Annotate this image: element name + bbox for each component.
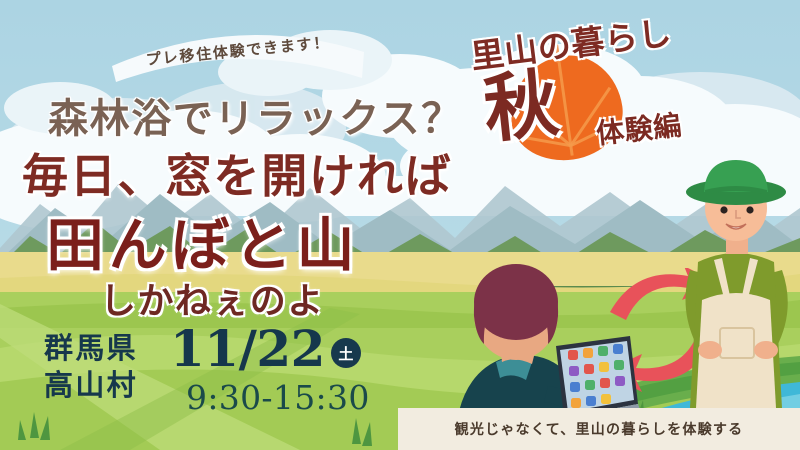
prefecture-label: 群馬県 <box>44 330 138 367</box>
weekday-badge: 土 <box>331 338 361 368</box>
event-date: 11/22 土 <box>170 324 361 374</box>
event-location: 群馬県 高山村 <box>44 330 138 404</box>
headline-line-1: 森林浴でリラックス？ <box>48 86 463 144</box>
bottom-caption-bar: 観光じゃなくて、里山の暮らしを体験する <box>398 408 800 450</box>
village-label: 高山村 <box>44 367 138 404</box>
logo-season-text: 秋 <box>480 66 561 147</box>
series-logo: 里山の暮らし 秋 体験編 <box>470 18 760 148</box>
date-value: 11/22 <box>170 324 325 374</box>
top-banner: プレ移住体験できます！ <box>112 26 364 82</box>
caption-text: 観光じゃなくて、里山の暮らしを体験する <box>398 408 800 450</box>
headline-line-3: 田んぼと山 <box>46 198 359 282</box>
headline-line-4: しかねぇのよ <box>100 272 325 324</box>
farmer-character <box>672 152 800 408</box>
event-time: 9:30-15:30 <box>186 378 370 417</box>
headline-line-2: 毎日、窓を開ければ <box>22 140 453 206</box>
poster-canvas: プレ移住体験できます！ 森林浴でリラックス？ 毎日、窓を開ければ 田んぼと山 し… <box>0 0 800 450</box>
logo-sub-text: 体験編 <box>594 104 683 153</box>
